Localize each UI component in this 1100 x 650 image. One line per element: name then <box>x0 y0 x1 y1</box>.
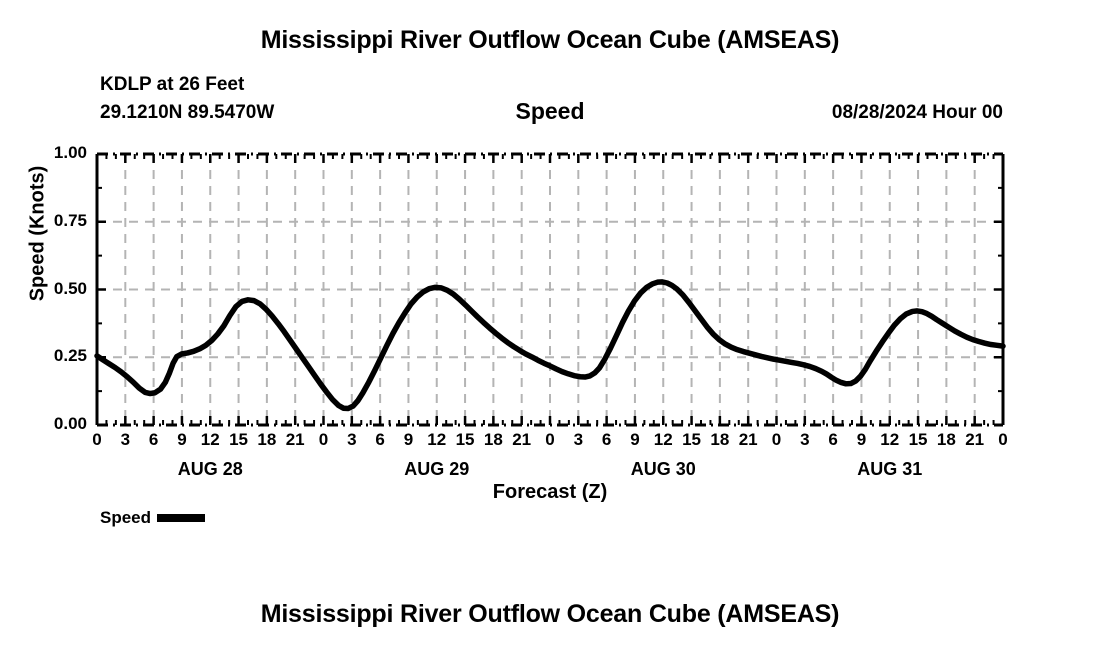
y-tick-label: 1.00 <box>17 143 87 163</box>
day-label: AUG 28 <box>140 459 280 480</box>
day-label: AUG 29 <box>367 459 507 480</box>
x-tick-label: 0 <box>986 430 1020 450</box>
day-label: AUG 31 <box>820 459 960 480</box>
y-tick-label: 0.25 <box>17 346 87 366</box>
page-title-bottom: Mississippi River Outflow Ocean Cube (AM… <box>0 600 1100 629</box>
legend-line-swatch <box>157 514 205 522</box>
legend-label: Speed <box>100 508 151 528</box>
y-tick-label: 0.75 <box>17 211 87 231</box>
legend: Speed <box>100 508 205 528</box>
y-tick-label: 0.00 <box>17 414 87 434</box>
chart-svg <box>0 0 1100 650</box>
chart-page: Mississippi River Outflow Ocean Cube (AM… <box>0 0 1100 650</box>
day-label: AUG 30 <box>593 459 733 480</box>
plot-area <box>0 0 1100 650</box>
y-tick-label: 0.50 <box>17 279 87 299</box>
